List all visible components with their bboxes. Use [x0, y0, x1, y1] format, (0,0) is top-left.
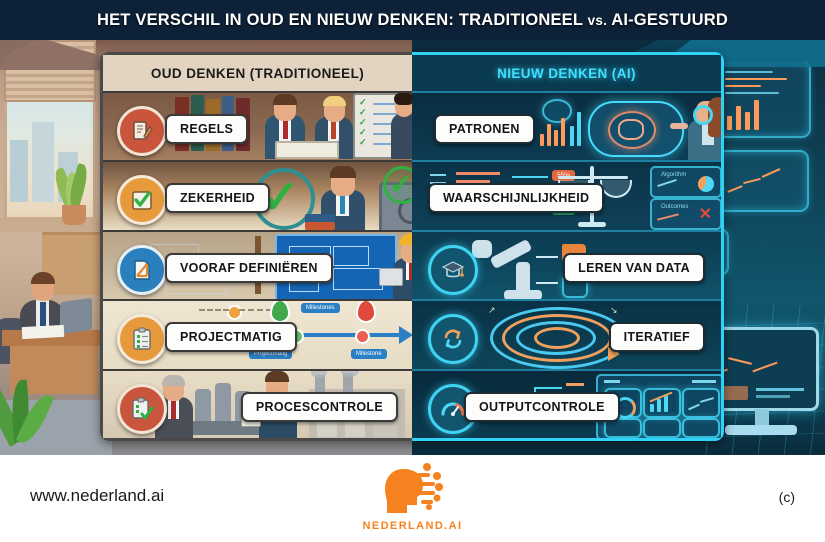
- infographic-page: HET VERSCHIL IN OUD EN NIEUW DENKEN: TRA…: [0, 0, 825, 542]
- infographic-image: HET VERSCHIL IN OUD EN NIEUW DENKEN: TRA…: [0, 0, 825, 455]
- dash-small-card: [682, 418, 720, 438]
- person-hair: [162, 375, 185, 386]
- hard-hat-icon: [399, 233, 412, 245]
- robot-gripper: [472, 240, 492, 258]
- mini-bar: [540, 134, 544, 146]
- person-hair: [265, 371, 289, 382]
- label-vooraf-definieren[interactable]: VOORAF DEFINIËREN: [165, 253, 333, 283]
- mini-bar: [577, 112, 581, 146]
- row-new-iteratief[interactable]: ↗ ↘ ITERATIEF: [412, 299, 721, 368]
- timeline-arrow: [399, 326, 412, 344]
- paper-stack: [22, 325, 65, 339]
- row-new-patronen[interactable]: PATRONEN: [412, 91, 721, 160]
- label-waarschijnlijkheid[interactable]: WAARSCHIJNLIJKHEID: [428, 183, 604, 213]
- document-folder: [305, 222, 335, 229]
- label-zekerheid[interactable]: ZEKERHEID: [165, 183, 270, 213]
- scale-base: [578, 222, 606, 227]
- outcomes-card-label: Outcomes: [656, 202, 693, 212]
- label-projectmatig[interactable]: PROJECTMATIG: [165, 322, 297, 352]
- scale-beam: [558, 176, 628, 179]
- label-outputcontrole[interactable]: OUTPUTCONTROLE: [464, 392, 620, 422]
- foreground-plant: [0, 372, 54, 452]
- person-body: [391, 113, 412, 159]
- map-pin: [270, 299, 290, 323]
- machine-unit: [195, 389, 211, 421]
- row-old-vooraf-definieren[interactable]: VOORAF DEFINIËREN: [103, 230, 412, 299]
- document-ruler-icon: [117, 245, 167, 295]
- window-sill: [0, 218, 106, 232]
- title-main: HET VERSCHIL IN OUD EN NIEUW DENKEN: TRA…: [97, 11, 588, 29]
- timeline-tag-right: Milestone: [351, 349, 387, 359]
- graduation-cap-icon: [428, 245, 478, 295]
- row-old-procescontrole[interactable]: PROCESCONTROLE: [103, 369, 412, 438]
- office-worker-tie: [40, 302, 46, 326]
- person-hair: [330, 166, 356, 178]
- column-old-thinking: OUD DENKEN (TRADITIONEEL): [100, 52, 412, 441]
- label-patronen[interactable]: PATRONEN: [434, 114, 535, 144]
- column-header-new: NIEUW DENKEN (AI): [412, 55, 721, 91]
- dash-small-card: [643, 418, 681, 438]
- timeline-node: [355, 329, 370, 344]
- timeline-tag-mid: Milestones: [301, 303, 340, 313]
- plant-pot: [62, 205, 86, 225]
- robot-arm-base: [504, 290, 542, 299]
- map-pin: [356, 299, 376, 323]
- city-building: [10, 140, 28, 202]
- title-vs: vs.: [588, 13, 607, 28]
- column-header-new-label: NIEUW DENKEN (AI): [497, 66, 636, 81]
- mini-bar: [561, 118, 565, 146]
- person-tie: [331, 119, 336, 139]
- row-new-waarschijnlijkheid[interactable]: 55% 35% 32% Algorithm: [412, 160, 721, 229]
- outcomes-card: Outcomes ✕: [650, 198, 721, 229]
- nederland-ai-head-icon: [377, 463, 449, 519]
- smoke-puff: [341, 369, 359, 377]
- algorithm-card: Algorithm: [650, 166, 721, 198]
- label-leren-van-data[interactable]: LEREN VAN DATA: [563, 253, 705, 283]
- person-tie: [171, 399, 176, 419]
- mini-bar: [554, 130, 558, 146]
- monitor-base: [725, 425, 797, 435]
- brand-logo[interactable]: NEDERLAND.AI: [0, 463, 825, 532]
- machine-unit: [215, 383, 231, 421]
- label-regels[interactable]: REGELS: [165, 114, 248, 144]
- column-new-thinking: NIEUW DENKEN (AI): [412, 52, 724, 441]
- person-hair: [394, 93, 412, 105]
- mini-bar: [570, 126, 574, 146]
- headset-icon: [693, 105, 713, 125]
- holo-line-chart: [717, 150, 809, 212]
- dash-line-card: [682, 388, 720, 418]
- person-hair: [323, 96, 346, 106]
- pointing-finger: [670, 123, 688, 129]
- checkbox-check-icon: [117, 175, 167, 225]
- row-old-zekerheid[interactable]: ✓ ✓: [103, 160, 412, 229]
- ai-cloud-icon: [588, 101, 684, 157]
- mini-bar: [547, 124, 551, 146]
- row-old-projectmatig[interactable]: Projectmatig Milestones Milestone: [103, 299, 412, 368]
- page-title: HET VERSCHIL IN OUD EN NIEUW DENKEN: TRA…: [97, 11, 728, 30]
- open-document: [275, 141, 339, 159]
- dash-bar-card: [643, 388, 681, 418]
- row-new-outputcontrole[interactable]: OUTPUTCONTROLE: [412, 369, 721, 438]
- label-iteratief[interactable]: ITERATIEF: [609, 322, 705, 352]
- comparison-panel: OUD DENKEN (TRADITIONEEL): [100, 52, 724, 441]
- document-pencil-icon: [117, 106, 167, 156]
- row-new-leren-van-data[interactable]: LEREN VAN DATA: [412, 230, 721, 299]
- column-header-old-label: OUD DENKEN (TRADITIONEEL): [151, 66, 364, 81]
- laptop-icon: [60, 298, 92, 334]
- refresh-cycle-icon: [428, 314, 478, 364]
- smoke-puff: [311, 369, 327, 378]
- timeline-dash: [199, 309, 229, 312]
- brand-logo-text: NEDERLAND.AI: [363, 520, 463, 532]
- row-old-regels[interactable]: ✓ ✓ ✓ ✓ ✓: [103, 91, 412, 160]
- title-tail: AI-GESTUURD: [607, 11, 728, 29]
- column-header-old: OUD DENKEN (TRADITIONEEL): [103, 55, 412, 91]
- city-building: [32, 122, 54, 202]
- infographic-title-bar: HET VERSCHIL IN OUD EN NIEUW DENKEN: TRA…: [0, 0, 825, 40]
- clipboard-check-icon: [117, 384, 167, 434]
- holo-panel: [715, 60, 811, 138]
- tablet-device: [379, 268, 403, 286]
- clipboard-list-icon: [117, 314, 167, 364]
- holo-ring: [542, 99, 572, 123]
- timeline-node-upper: [227, 305, 242, 320]
- label-procescontrole[interactable]: PROCESCONTROLE: [241, 392, 398, 422]
- person-hair: [273, 94, 297, 105]
